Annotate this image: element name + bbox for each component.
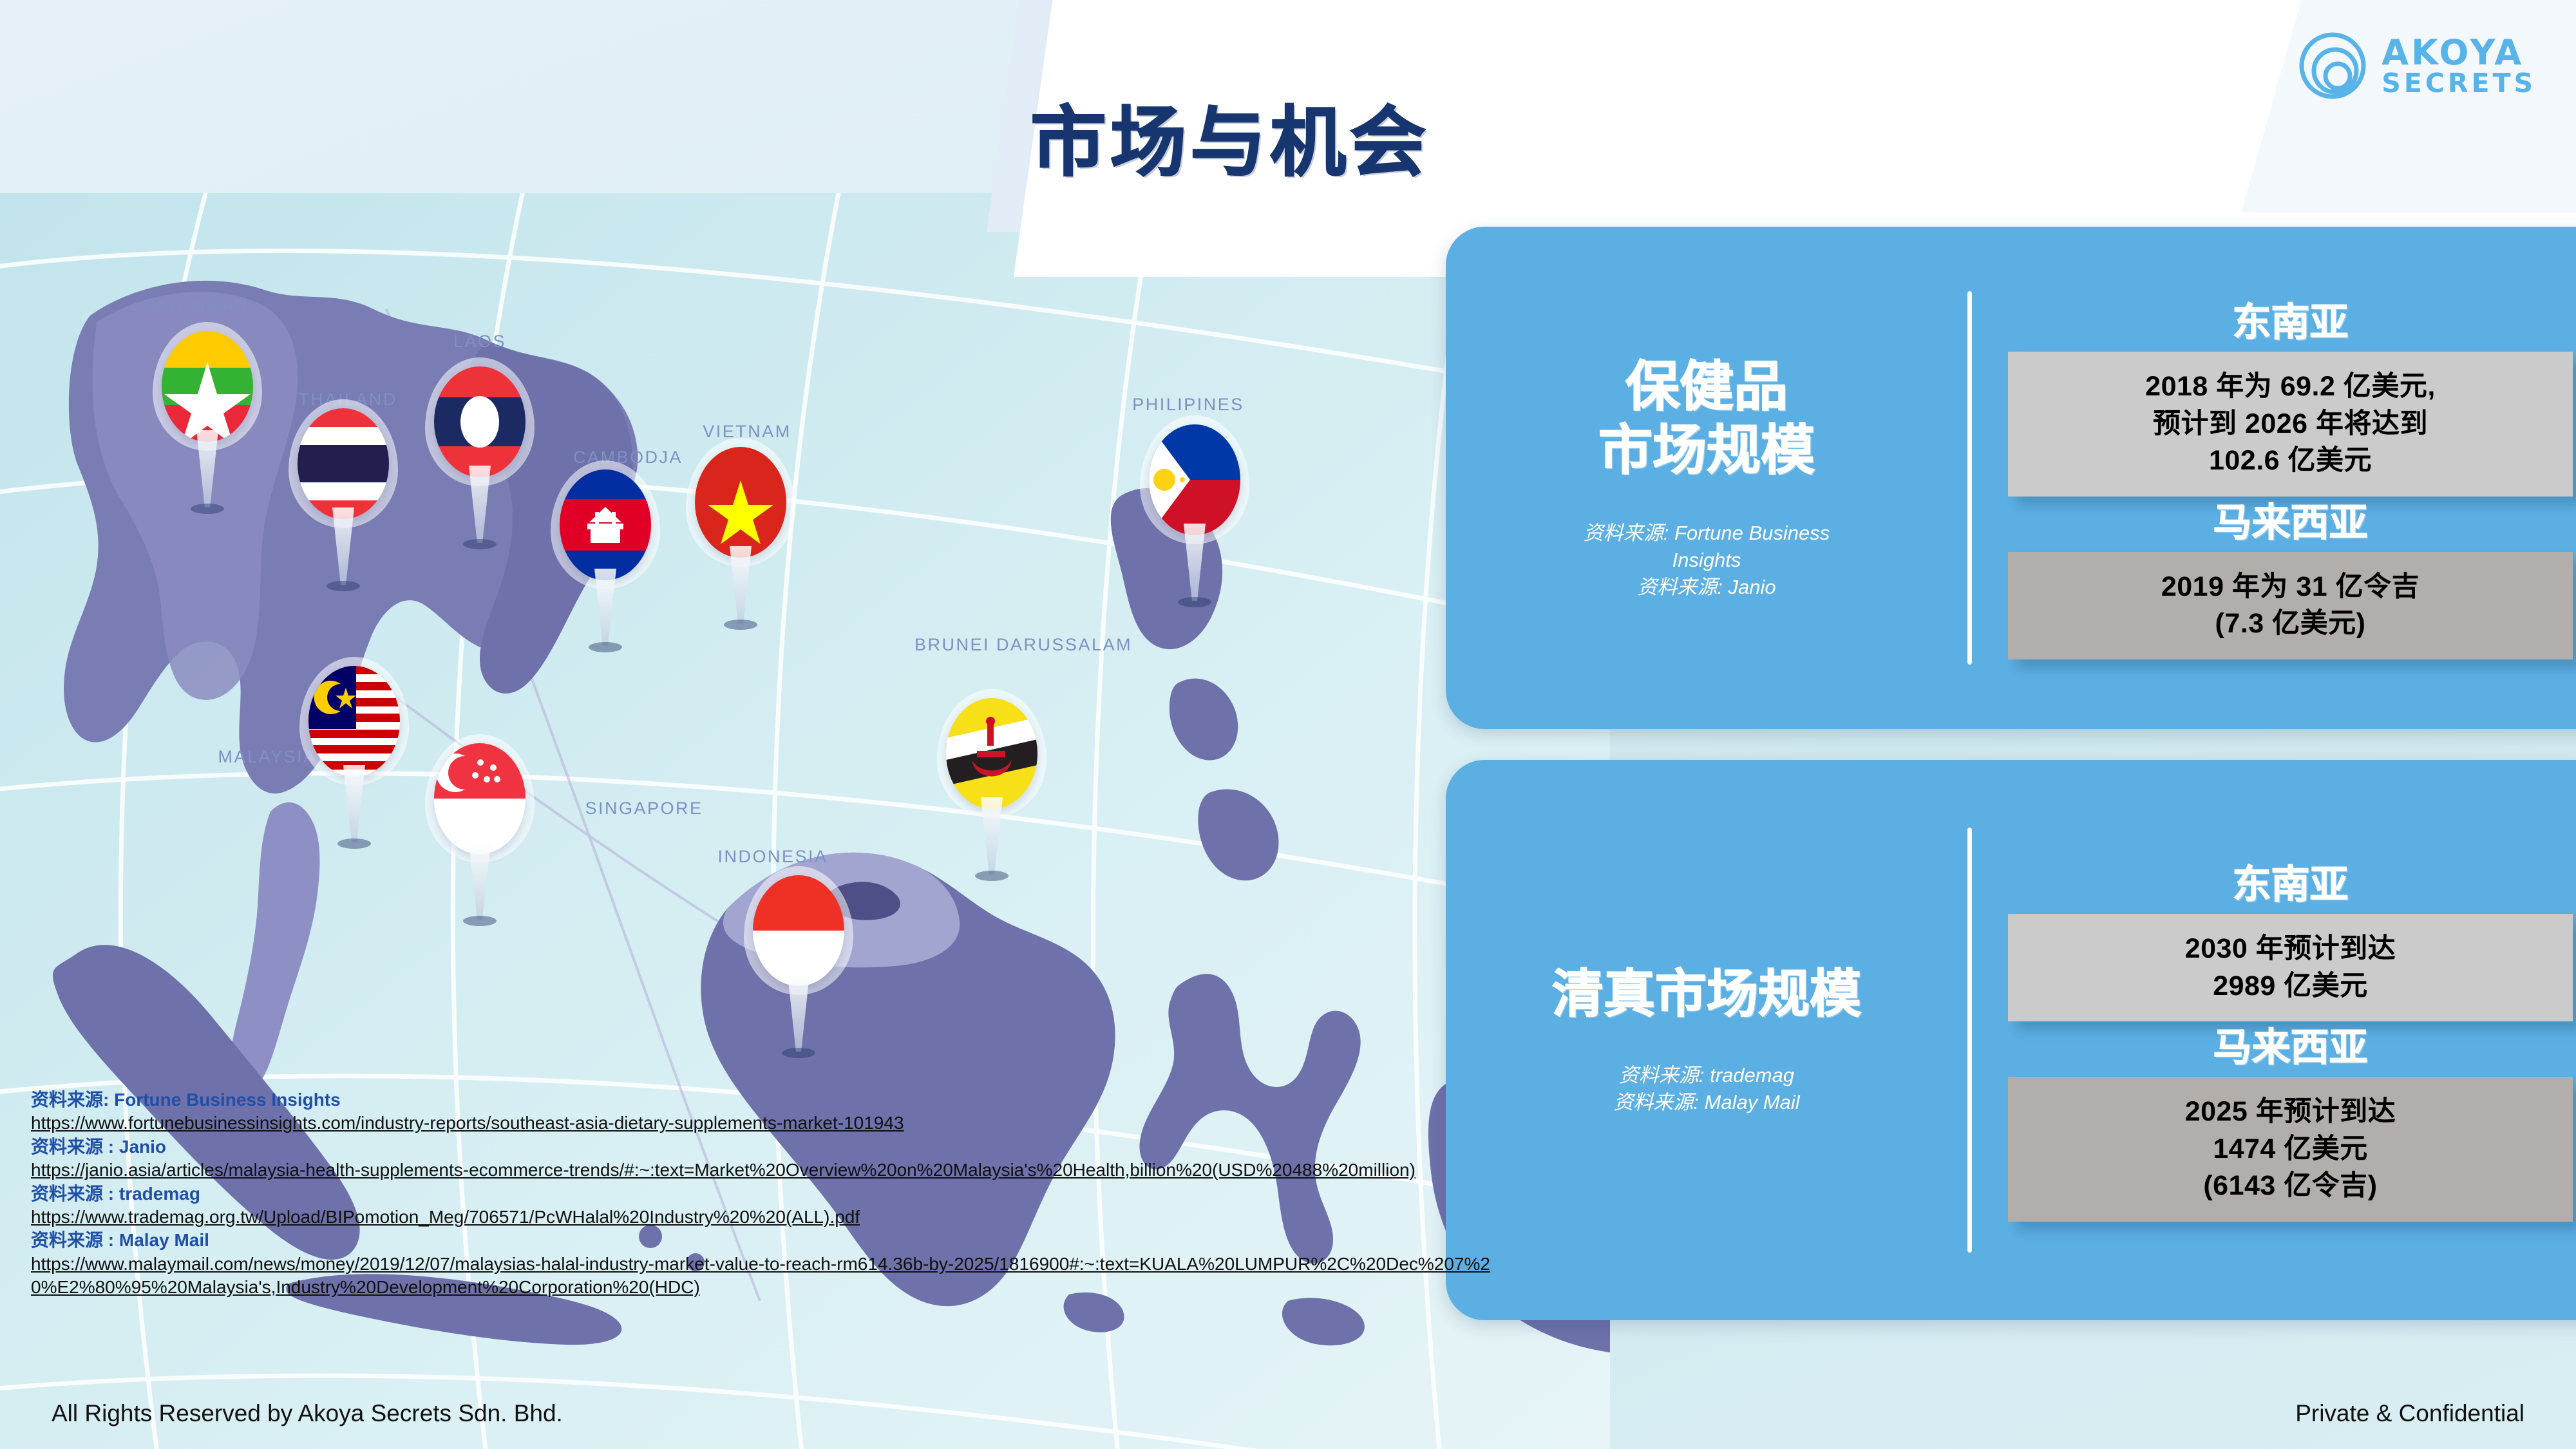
- card-2-stat-2-line2: 1474 亿美元: [2185, 1131, 2396, 1168]
- pin-dot: [463, 539, 497, 549]
- market-size-card-supplements: 保健品 市场规模 资料来源: Fortune Business Insights…: [1446, 227, 2576, 729]
- pin-label-philipines: PHILIPINES: [1095, 395, 1282, 415]
- card-1-source-line2: Insights: [1584, 547, 1830, 574]
- concentric-circles-icon: [2298, 31, 2367, 100]
- card-1-stat-box-2: 2019 年为 31 亿令吉 (7.3 亿美元): [2008, 552, 2573, 659]
- card-2-source-line2: 资料来源: Malay Mail: [1613, 1089, 1799, 1116]
- card-2-region-1: 东南亚: [2233, 864, 2349, 906]
- footer-confidentiality: Private & Confidential: [2295, 1400, 2524, 1427]
- card-1-stat-box-1: 2018 年为 69.2 亿美元, 预计到 2026 年将达到 102.6 亿美…: [2008, 352, 2573, 497]
- logo-line-1: AKOYA: [2382, 35, 2536, 70]
- cambodia-flag-icon: [560, 469, 651, 580]
- card-1-stat-1-line1: 2018 年为 69.2 亿美元,: [2145, 368, 2436, 406]
- card-2-right: 东南亚 2030 年预计到达 2989 亿美元 马来西亚 2025 年预计到达 …: [1972, 760, 2576, 1320]
- thailand-flag-icon: [298, 408, 389, 519]
- pin-label-myanmar: MYANMAR: [119, 296, 280, 316]
- reference-label-3: 资料来源 : trademag: [31, 1182, 1512, 1206]
- pin-dot: [589, 642, 622, 652]
- card-1-divider: [1967, 291, 1972, 665]
- reference-url-2[interactable]: https://janio.asia/articles/malaysia-hea…: [31, 1159, 1512, 1182]
- card-1-heading-line1: 保健品: [1598, 355, 1815, 419]
- card-2-stat-box-1: 2030 年预计到达 2989 亿美元: [2008, 914, 2573, 1021]
- card-2-heading: 清真市场规模: [1552, 964, 1861, 1025]
- card-2-region-2: 马来西亚: [2213, 1027, 2368, 1069]
- card-2-heading-line1: 清真市场规模: [1552, 964, 1861, 1025]
- footer-copyright: All Rights Reserved by Akoya Secrets Sdn…: [52, 1400, 563, 1427]
- pin-dot: [782, 1048, 815, 1058]
- card-1-source-line3: 资料来源: Janio: [1584, 574, 1830, 601]
- market-size-card-halal: 清真市场规模 资料来源: trademag 资料来源: Malay Mail 东…: [1446, 760, 2576, 1320]
- reference-url-3[interactable]: https://www.trademag.org.tw/Upload/BIPom…: [31, 1206, 1512, 1229]
- page-title: 市场与机会: [1030, 80, 1430, 191]
- card-2-left: 清真市场规模 资料来源: trademag 资料来源: Malay Mail: [1446, 760, 1967, 1320]
- reference-list: 资料来源: Fortune Business Insights https://…: [31, 1088, 1512, 1300]
- footer: All Rights Reserved by Akoya Secrets Sdn…: [0, 1378, 2576, 1449]
- pin-dot: [337, 838, 371, 849]
- reference-label-2: 资料来源 : Janio: [31, 1135, 1512, 1159]
- card-2-stat-2-line3: (6143 亿令吉): [2185, 1168, 2396, 1205]
- card-1-stat-2-line1: 2019 年为 31 亿令吉: [2161, 569, 2420, 606]
- pin-label-laos: LAOS: [422, 332, 538, 352]
- card-2-stat-box-2: 2025 年预计到达 1474 亿美元 (6143 亿令吉): [2008, 1077, 2573, 1222]
- pin-label-cambodja: CAMBODJA: [541, 448, 715, 468]
- pin-label-brunei: BRUNEI DARUSSALAM: [914, 634, 1108, 656]
- laos-flag-icon: [434, 366, 526, 477]
- card-2-source-line1: 资料来源: trademag: [1613, 1062, 1799, 1089]
- pin-dot: [191, 504, 224, 514]
- card-1-heading: 保健品 市场规模: [1598, 355, 1815, 482]
- card-2-sources: 资料来源: trademag 资料来源: Malay Mail: [1613, 1062, 1799, 1116]
- slide-canvas: 市场与机会 AKOYA SECRETS MYANMAR LA: [0, 0, 2576, 1449]
- card-2-divider: [1967, 828, 1972, 1253]
- card-2-stat-1-line2: 2989 亿美元: [2185, 968, 2396, 1005]
- malaysia-flag-icon: [308, 666, 400, 777]
- brand-logo: AKOYA SECRETS: [2298, 31, 2536, 100]
- pin-dot: [975, 871, 1009, 881]
- reference-url-1[interactable]: https://www.fortunebusinessinsights.com/…: [31, 1112, 1512, 1135]
- myanmar-flag-icon: [162, 331, 253, 442]
- card-1-region-1: 东南亚: [2233, 301, 2349, 344]
- card-2-stat-2-line1: 2025 年预计到达: [2185, 1094, 2396, 1131]
- philippines-flag-icon: [1149, 424, 1240, 535]
- pin-dot: [1178, 597, 1211, 607]
- card-1-right: 东南亚 2018 年为 69.2 亿美元, 预计到 2026 年将达到 102.…: [1972, 227, 2576, 729]
- reference-url-4[interactable]: https://www.malaymail.com/news/money/201…: [31, 1253, 1512, 1300]
- card-1-region-2: 马来西亚: [2213, 502, 2368, 544]
- logo-line-2: SECRETS: [2382, 70, 2536, 97]
- pin-dot: [327, 581, 360, 591]
- pin-label-singapore: SINGAPORE: [567, 799, 721, 819]
- vietnam-flag-icon: [695, 447, 786, 558]
- card-1-left: 保健品 市场规模 资料来源: Fortune Business Insights…: [1446, 227, 1967, 729]
- indonesia-flag-icon: [753, 875, 844, 986]
- card-2-stat-1-line1: 2030 年预计到达: [2185, 931, 2396, 968]
- card-1-source-line1: 资料来源: Fortune Business: [1584, 520, 1830, 547]
- brunei-flag-icon: [946, 698, 1037, 809]
- card-1-heading-line2: 市场规模: [1598, 419, 1815, 482]
- pin-dot: [463, 916, 497, 926]
- card-1-stat-2-line2: (7.3 亿美元): [2161, 605, 2420, 643]
- card-1-sources: 资料来源: Fortune Business Insights 资料来源: Ja…: [1584, 520, 1830, 601]
- pin-label-indonesia: INDONESIA: [689, 847, 857, 867]
- card-1-stat-1-line2: 预计到 2026 年将达到: [2145, 406, 2436, 443]
- card-1-stat-1-line3: 102.6 亿美元: [2145, 442, 2436, 480]
- pin-dot: [724, 620, 757, 630]
- reference-label-1: 资料来源: Fortune Business Insights: [31, 1088, 1512, 1112]
- reference-label-4: 资料来源 : Malay Mail: [31, 1229, 1512, 1252]
- singapore-flag-icon: [434, 743, 526, 854]
